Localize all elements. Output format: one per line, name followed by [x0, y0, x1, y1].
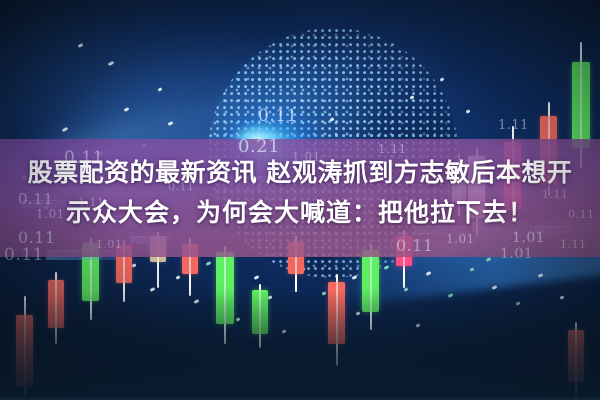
vignette-overlay: [0, 0, 600, 400]
banner-image: 0.110.111.010.110.111.111.010.110.211.11…: [0, 0, 600, 400]
